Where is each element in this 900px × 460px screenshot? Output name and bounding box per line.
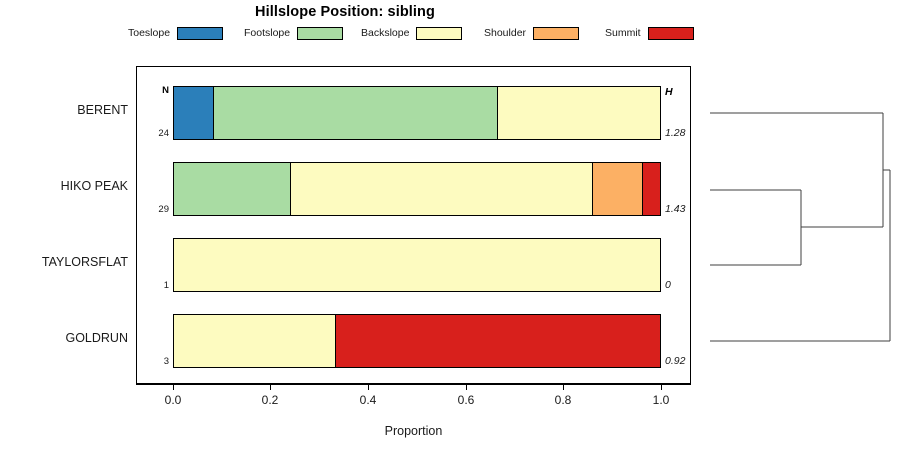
row-label: TAYLORSFLAT [0,255,128,269]
x-tick-label: 0.6 [443,393,489,407]
legend-item-toeslope[interactable]: Toeslope [128,25,223,41]
x-tick-mark [661,384,662,390]
stacked-bar[interactable] [173,86,661,140]
legend-item-footslope[interactable]: Footslope [244,25,343,41]
x-tick-label: 0.8 [540,393,586,407]
legend-label: Shoulder [484,27,526,39]
row-n-value: 3 [145,356,169,367]
bar-segment-summit[interactable] [643,163,660,215]
dendrogram-svg [700,60,900,390]
stacked-bar[interactable] [173,314,661,368]
bar-segment-backslope[interactable] [291,163,593,215]
x-tick-mark [466,384,467,390]
x-tick-label: 0.4 [345,393,391,407]
bar-segment-shoulder[interactable] [593,163,643,215]
legend-swatch-shoulder [533,27,579,40]
x-axis-title: Proportion [136,424,691,438]
stacked-bar[interactable] [173,162,661,216]
bar-segment-summit[interactable] [336,315,660,367]
bar-segment-backslope[interactable] [174,239,660,291]
row-label: HIKO PEAK [0,179,128,193]
legend: ToeslopeFootslopeBackslopeShoulderSummit [118,25,708,41]
legend-swatch-backslope [416,27,462,40]
dendrogram [700,60,900,390]
legend-label: Summit [605,27,641,39]
row-label: GOLDRUN [0,331,128,345]
stacked-bar[interactable] [173,238,661,292]
legend-item-backslope[interactable]: Backslope [361,25,462,41]
row-h-value: 0.92 [665,355,705,367]
bar-segment-footslope[interactable] [174,163,291,215]
legend-swatch-footslope [297,27,343,40]
x-tick-mark [270,384,271,390]
legend-item-summit[interactable]: Summit [605,25,694,41]
page-title: Hillslope Position: sibling [0,4,690,20]
x-tick-mark [173,384,174,390]
x-axis: Proportion 0.00.20.40.60.81.0 [136,384,691,444]
bar-segment-footslope[interactable] [214,87,497,139]
legend-label: Backslope [361,27,409,39]
legend-label: Toeslope [128,27,170,39]
legend-swatch-summit [648,27,694,40]
legend-label: Footslope [244,27,290,39]
row-h-value: 0 [665,279,705,291]
bar-segment-backslope[interactable] [498,87,660,139]
x-axis-line [136,384,691,385]
row-n-value: 24 [145,128,169,139]
x-tick-mark [368,384,369,390]
legend-swatch-toeslope [177,27,223,40]
x-tick-label: 1.0 [638,393,684,407]
legend-item-shoulder[interactable]: Shoulder [484,25,579,41]
row-n-value: 1 [145,280,169,291]
x-tick-mark [563,384,564,390]
row-h-value: 1.43 [665,203,705,215]
bar-segment-backslope[interactable] [174,315,336,367]
row-n-value: 29 [145,204,169,215]
row-h-value: 1.28 [665,127,705,139]
bar-segment-toeslope[interactable] [174,87,214,139]
row-label: BERENT [0,103,128,117]
x-tick-label: 0.0 [150,393,196,407]
x-tick-label: 0.2 [247,393,293,407]
